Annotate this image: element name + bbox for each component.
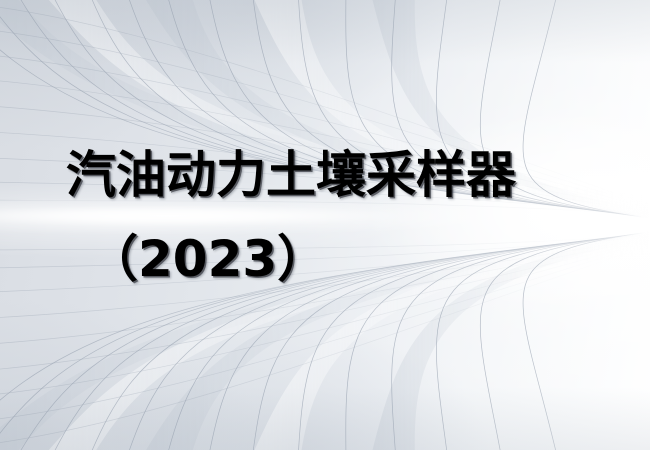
title-block: 汽油动力土壤采样器 （2023） <box>0 0 650 450</box>
slide-title-main: 汽油动力土壤采样器 <box>66 146 516 204</box>
title-slide: 汽油动力土壤采样器 （2023） <box>0 0 650 450</box>
slide-title-year: （2023） <box>88 230 327 288</box>
